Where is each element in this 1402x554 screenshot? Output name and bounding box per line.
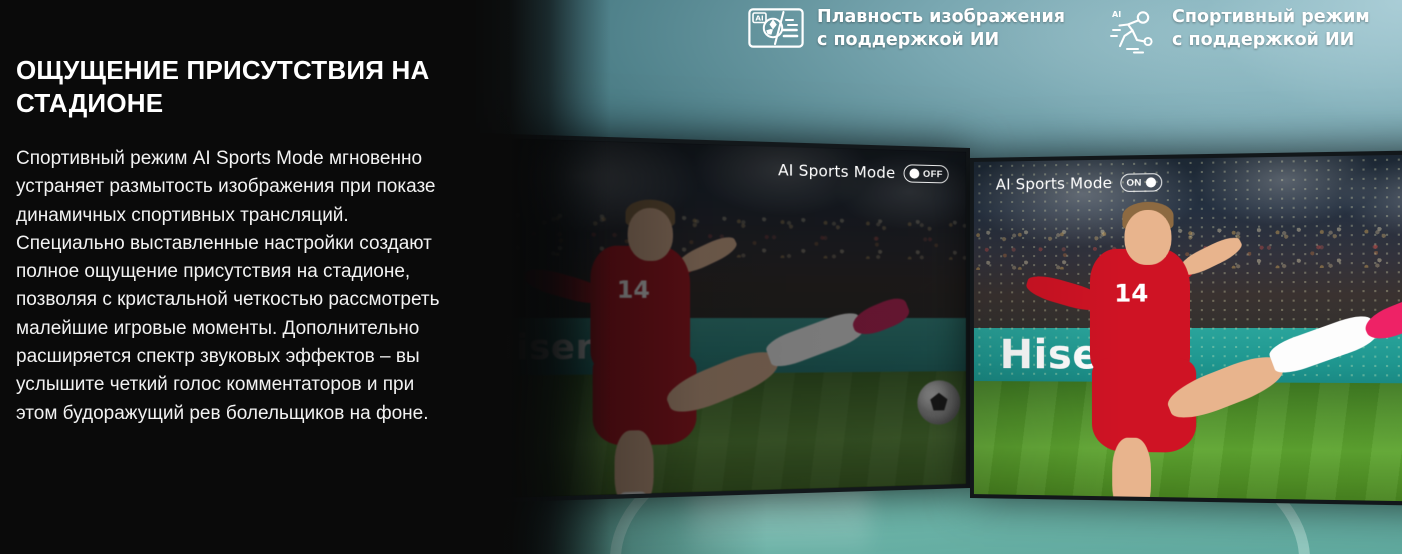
badge-picture-smoothness-text: Плавность изображения с поддержкой ИИ <box>817 6 1065 52</box>
mode-label-off: AI Sports Mode <box>778 161 895 182</box>
mode-indicator-on[interactable]: AI Sports Mode ON <box>996 173 1163 194</box>
mode-toggle-off[interactable]: OFF <box>903 164 948 183</box>
badge-2-line-2: с поддержкой ИИ <box>1172 29 1370 52</box>
mode-toggle-on[interactable]: ON <box>1120 173 1162 192</box>
body-text: Спортивный режим AI Sports Mode мгновенн… <box>16 145 456 428</box>
badge-picture-smoothness: AI Плавность изображения с поддержкой ИИ <box>748 6 1065 59</box>
panel-gradient-fade <box>470 0 610 554</box>
badge-2-line-1: Спортивный режим <box>1172 7 1370 27</box>
toggle-knob-off <box>909 168 919 178</box>
text-panel: ОЩУЩЕНИЕ ПРИСУТСТВИЯ НА СТАДИОНЕ Спортив… <box>0 0 470 554</box>
toggle-knob-on <box>1146 177 1156 187</box>
ai-sports-mode-runner-icon: AI <box>1107 8 1159 59</box>
promo-banner: Hisense 14 <box>0 0 1402 554</box>
svg-text:AI: AI <box>1112 10 1121 19</box>
svg-text:AI: AI <box>755 13 764 22</box>
badge-1-line-2: с поддержкой ИИ <box>817 29 1065 52</box>
badge-1-line-1: Плавность изображения <box>817 7 1065 27</box>
page-title: ОЩУЩЕНИЕ ПРИСУТСТВИЯ НА СТАДИОНЕ <box>16 54 456 120</box>
tv-screen-on[interactable]: Hisense 14 <box>970 149 1402 506</box>
mode-label-on: AI Sports Mode <box>996 174 1112 194</box>
badge-sports-mode: AI Спортивный режим с поддержкой ИИ <box>1107 6 1370 59</box>
ai-picture-smoothness-icon: AI <box>748 8 804 53</box>
toggle-state-on: ON <box>1126 177 1141 188</box>
feature-badges: AI Плавность изображения с поддержкой ИИ <box>748 6 1370 59</box>
badge-sports-mode-text: Спортивный режим с поддержкой ИИ <box>1172 6 1370 52</box>
screen-dim-veil <box>974 154 1402 503</box>
toggle-state-off: OFF <box>923 168 943 180</box>
